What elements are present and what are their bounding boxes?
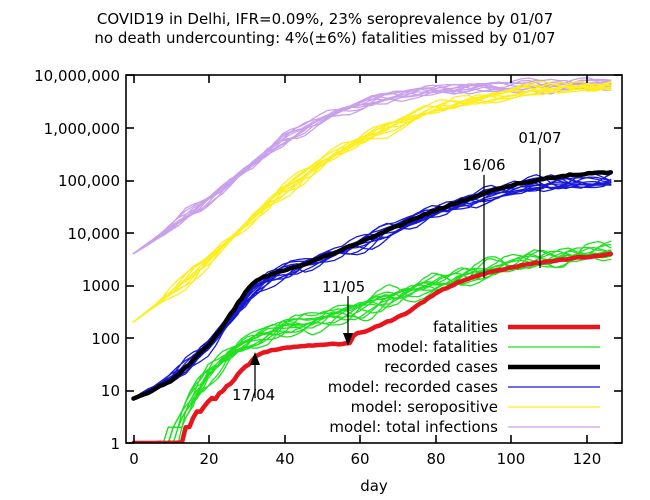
x-tick-label: 100 (497, 450, 526, 468)
annotation-label: 16/06 (462, 156, 505, 174)
y-axis-tick-labels: 10,000,000 1,000,000 100,000 10,000 1000… (34, 67, 120, 453)
x-tick-label: 0 (129, 450, 139, 468)
annotation-label: 11/05 (322, 278, 365, 296)
chart-legend: fatalitiesmodel: fatalitiesrecorded case… (328, 318, 600, 436)
chart-title: COVID19 in Delhi, IFR=0.09%, 23% seropre… (0, 10, 650, 48)
annotation-label: 01/07 (518, 129, 561, 147)
annotation-17-04: 17/04 (232, 352, 275, 404)
chart-figure: COVID19 in Delhi, IFR=0.09%, 23% seropre… (0, 0, 650, 500)
x-tick-label: 20 (199, 450, 218, 468)
chart-title-line-2: no death undercounting: 4%(±6%) fataliti… (0, 29, 650, 48)
legend-label: model: seropositive (351, 398, 498, 416)
legend-label: recorded cases (384, 358, 498, 376)
x-axis-tick-labels: 0 20 40 60 80 100 120 (129, 450, 601, 468)
annotation-label: 17/04 (232, 386, 275, 404)
x-tick-label: 40 (275, 450, 294, 468)
legend-label: model: recorded cases (328, 378, 498, 396)
y-tick-label: 10 (101, 382, 120, 400)
chart-canvas: 10,000,000 1,000,000 100,000 10,000 1000… (0, 0, 650, 500)
y-tick-label: 1000 (82, 277, 120, 295)
x-tick-label: 80 (426, 450, 445, 468)
legend-label: model: total infections (329, 418, 498, 436)
annotation-01-07: 01/07 (518, 129, 561, 268)
legend-label: model: fatalities (376, 338, 498, 356)
annotation-16-06: 16/06 (462, 156, 505, 278)
y-tick-label: 100,000 (58, 172, 120, 190)
y-tick-label: 1 (110, 435, 120, 453)
y-tick-label: 10,000,000 (34, 67, 120, 85)
x-tick-label: 120 (573, 450, 602, 468)
x-axis-title: day (360, 477, 388, 495)
y-tick-label: 10,000 (68, 225, 121, 243)
x-tick-label: 60 (350, 450, 369, 468)
y-tick-label: 1,000,000 (44, 120, 120, 138)
legend-label: fatalities (433, 318, 498, 336)
y-tick-label: 100 (91, 330, 120, 348)
chart-title-line-1: COVID19 in Delhi, IFR=0.09%, 23% seropre… (0, 10, 650, 29)
